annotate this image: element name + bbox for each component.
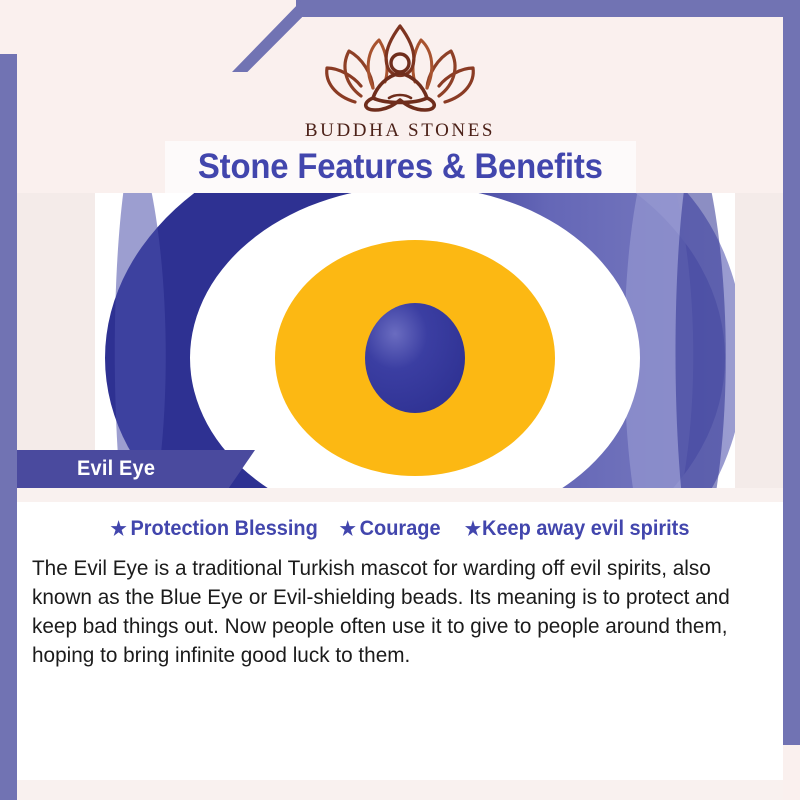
content-top-tint — [17, 488, 783, 502]
brand-logo: BUDDHA STONES — [305, 18, 495, 142]
hero-label-banner: Evil Eye — [17, 450, 255, 488]
frame-edge-left — [0, 54, 17, 800]
benefit-label-1: Courage — [359, 517, 440, 541]
star-icon: ★ — [465, 520, 481, 539]
benefit-label-2: Keep away evil spirits — [482, 517, 689, 541]
description-text: The Evil Eye is a traditional Turkish ma… — [32, 554, 748, 670]
benefit-item-2: ★ Keep away evil spirits — [465, 517, 690, 541]
lotus-meditation-icon — [315, 18, 485, 118]
star-icon: ★ — [339, 520, 355, 539]
hero-label-text: Evil Eye — [77, 457, 155, 481]
star-icon: ★ — [110, 520, 126, 539]
bottom-strip — [17, 780, 783, 800]
promo-poster: BUDDHA STONES Stone Features & Benefits — [0, 0, 800, 800]
benefit-item-1: ★ Courage — [339, 517, 440, 541]
brand-name: BUDDHA STONES — [305, 120, 495, 142]
frame-edge-right — [783, 0, 800, 745]
hero-right-padding — [735, 193, 783, 488]
page-title-banner: Stone Features & Benefits — [165, 141, 636, 193]
benefit-label-0: Protection Blessing — [130, 517, 317, 541]
page-title: Stone Features & Benefits — [198, 147, 603, 187]
hero-image — [95, 193, 735, 488]
benefits-row: ★ Protection Blessing ★ Courage ★ Keep a… — [17, 517, 783, 541]
brand-header: BUDDHA STONES — [17, 0, 783, 141]
benefit-item-0: ★ Protection Blessing — [110, 517, 317, 541]
hero-left-padding — [17, 193, 95, 488]
